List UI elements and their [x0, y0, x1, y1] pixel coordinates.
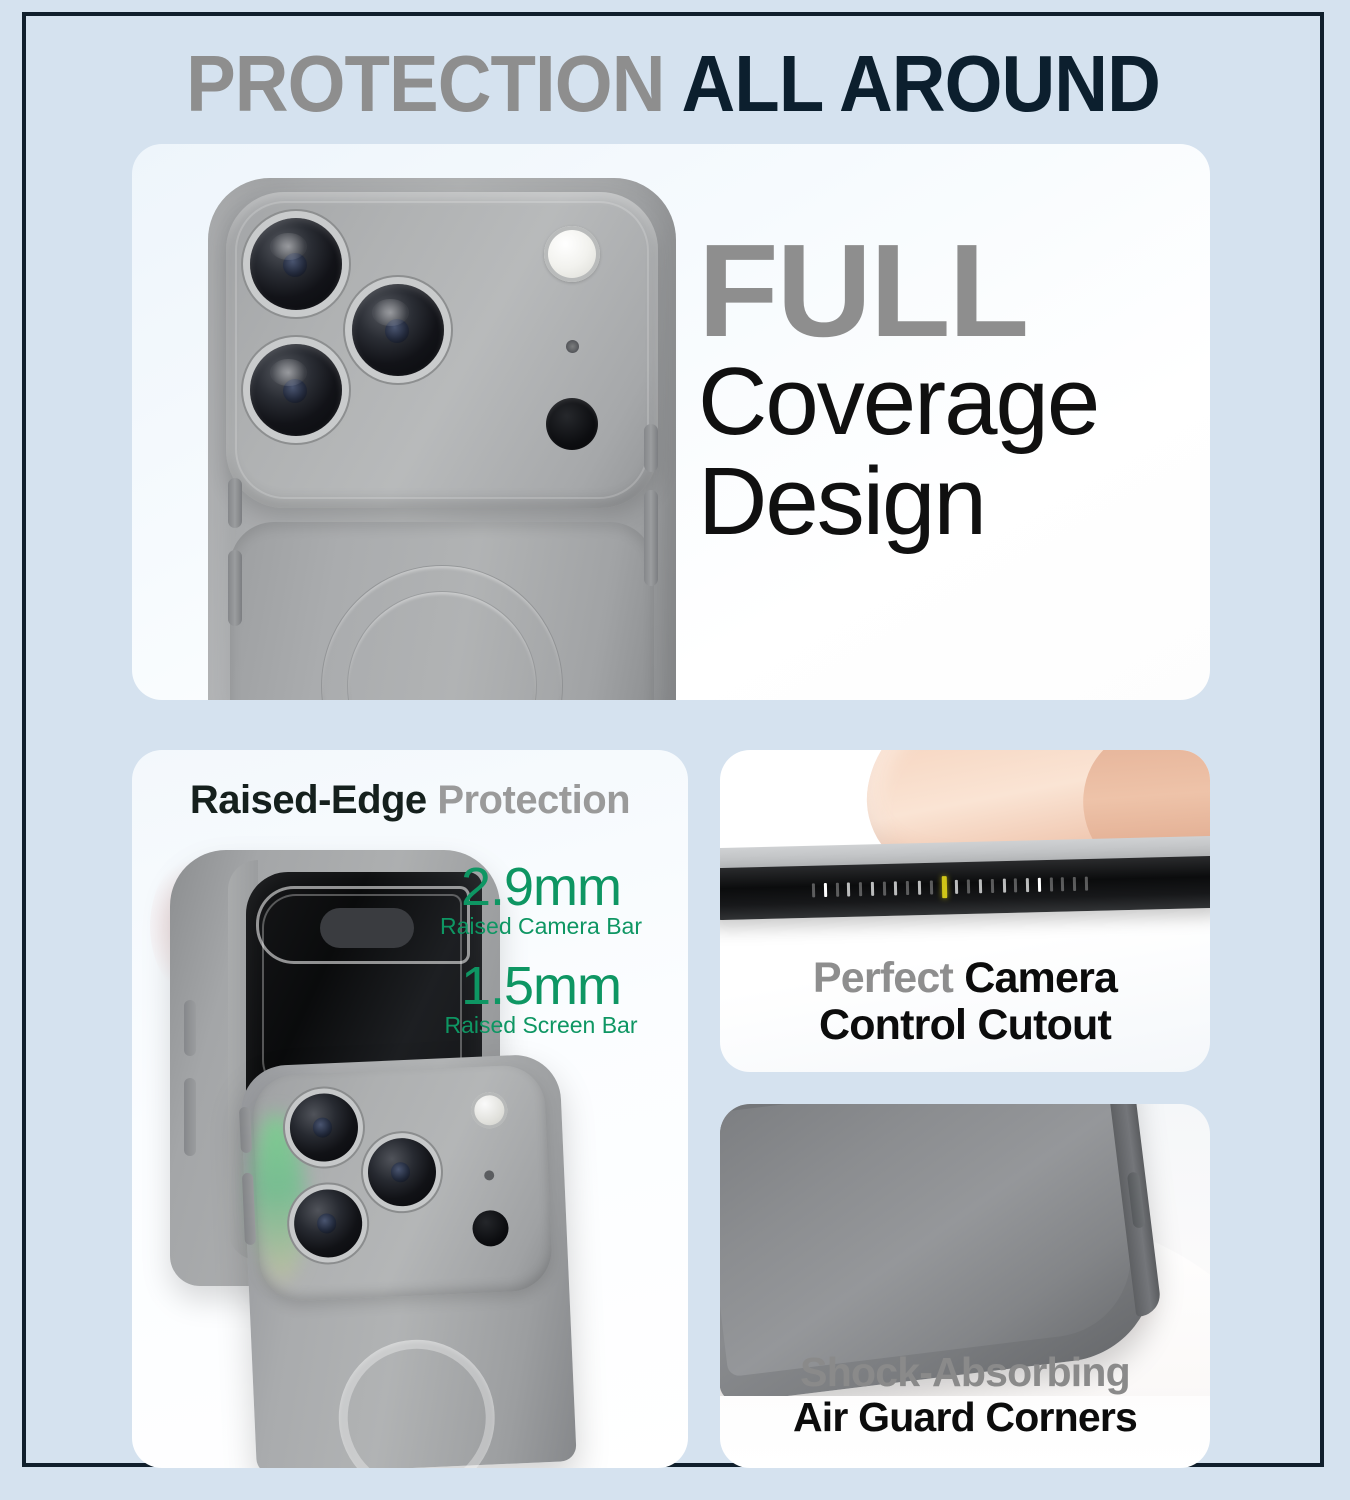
side-button-icon — [184, 1078, 196, 1156]
microphone-icon — [484, 1170, 494, 1180]
dynamic-island-icon — [320, 908, 414, 948]
page-title: PROTECTION ALL AROUND — [71, 44, 1274, 124]
microphone-icon — [566, 340, 579, 353]
raised-edge-title-dark: Raised-Edge — [190, 778, 427, 822]
case-back-panel — [230, 522, 654, 700]
spec-value-screen-bar: 1.5mm — [416, 959, 666, 1014]
side-button-icon — [228, 550, 242, 626]
side-button-icon — [228, 478, 242, 528]
phone-case-body — [208, 178, 676, 700]
raised-edge-card: Raised-Edge Protection — [132, 750, 688, 1468]
raised-edge-title-gray: Protection — [437, 778, 630, 822]
hero-title-design: Design — [698, 453, 1168, 551]
spec-label-screen-bar: Raised Screen Bar — [416, 1012, 666, 1040]
hero-card: FULL Coverage Design — [132, 144, 1210, 700]
shock-title: Shock-Absorbing Air Guard Corners — [720, 1350, 1210, 1440]
camera-control-card: Perfect Camera Control Cutout — [720, 750, 1210, 1072]
camera-lens-icon — [250, 344, 342, 436]
spec-label-camera-bar: Raised Camera Bar — [416, 913, 666, 941]
hero-title-coverage: Coverage — [698, 353, 1168, 451]
hero-phone-image — [180, 178, 710, 700]
slider-active-tick — [941, 876, 947, 898]
shock-absorbing-card: Shock-Absorbing Air Guard Corners — [720, 1104, 1210, 1468]
camera-control-title-dark-1: Camera — [964, 954, 1117, 1002]
lidar-sensor-icon — [546, 398, 598, 450]
shock-title-dark: Air Guard Corners — [793, 1394, 1137, 1440]
flash-icon — [471, 1092, 509, 1130]
infographic-frame: PROTECTION ALL AROUND — [22, 12, 1324, 1467]
camera-lens-icon — [293, 1188, 364, 1259]
camera-plateau — [226, 192, 658, 508]
camera-control-button-icon — [644, 490, 658, 586]
phone-angled-view — [239, 1053, 576, 1468]
camera-control-title-gray: Perfect — [813, 954, 953, 1002]
shock-title-gray: Shock-Absorbing — [800, 1349, 1130, 1395]
raised-edge-title: Raised-Edge Protection — [132, 778, 688, 823]
hero-title-full: FULL — [698, 230, 1168, 351]
side-button-icon — [644, 424, 658, 472]
flash-icon — [544, 226, 600, 282]
side-button-icon — [184, 1000, 196, 1056]
camera-lens-icon — [352, 284, 444, 376]
page-title-dark: ALL AROUND — [682, 39, 1160, 128]
lidar-sensor-icon — [472, 1210, 510, 1248]
case-corner-inner — [720, 1104, 1140, 1377]
side-button-icon — [239, 1107, 252, 1153]
camera-control-title-dark-2: Control Cutout — [819, 1001, 1111, 1049]
spec-value-camera-bar: 2.9mm — [416, 860, 666, 915]
camera-lens-icon — [367, 1137, 438, 1208]
spec-list: 2.9mm Raised Camera Bar 1.5mm Raised Scr… — [416, 860, 666, 1039]
camera-control-image — [720, 750, 1210, 946]
camera-plateau — [252, 1064, 554, 1303]
camera-control-title: Perfect Camera Control Cutout — [720, 955, 1210, 1048]
camera-lens-icon — [250, 218, 342, 310]
magsafe-ring — [335, 1336, 498, 1468]
hero-copy: FULL Coverage Design — [698, 230, 1168, 551]
page-title-gray: PROTECTION — [186, 39, 664, 128]
